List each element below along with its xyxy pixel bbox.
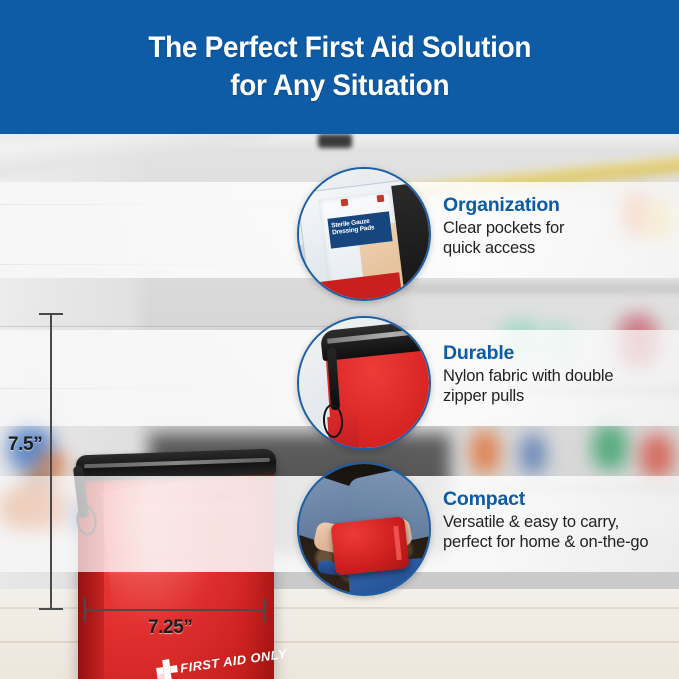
feature-title: Compact	[443, 488, 679, 511]
ceiling-mount-icon	[318, 134, 352, 148]
feature-image-durable	[297, 316, 431, 450]
feature-image-organization: Sterile Gauze Dressing Pads	[297, 167, 431, 301]
shelf-item	[592, 424, 628, 470]
feature-desc-line-2: perfect for home & on-the-go	[443, 533, 648, 551]
feature-text-compact: Compact Versatile & easy to carry, perfe…	[443, 488, 679, 552]
product-infographic: The Perfect First Aid Solution for Any S…	[0, 0, 679, 679]
feature-title: Organization	[443, 194, 679, 217]
feature-text-organization: Organization Clear pockets for quick acc…	[443, 194, 679, 258]
feature-desc-line-1: Clear pockets for	[443, 219, 564, 237]
feature-desc-line-2: zipper pulls	[443, 387, 524, 405]
feature-title: Durable	[443, 342, 679, 365]
shelf-item	[470, 430, 500, 474]
shelf-bar	[399, 284, 679, 293]
product-scene: FIRST AID ONLY Sterile Gauze Dressing Pa…	[0, 134, 679, 679]
shelf-item	[640, 434, 674, 478]
shelf-item	[520, 434, 546, 474]
feature-image-compact	[297, 462, 431, 596]
width-dimension-label: 7.25”	[148, 617, 192, 639]
feature-desc-line-2: quick access	[443, 239, 535, 257]
header-banner: The Perfect First Aid Solution for Any S…	[0, 0, 679, 134]
width-dimension-line	[84, 609, 266, 611]
headline-line-2: for Any Situation	[230, 67, 449, 105]
headline-line-1: The Perfect First Aid Solution	[148, 29, 531, 67]
height-dimension-label: 7.5”	[8, 434, 42, 456]
feature-text-durable: Durable Nylon fabric with double zipper …	[443, 342, 679, 406]
feature-desc-line-1: Nylon fabric with double	[443, 367, 613, 385]
feature-desc-line-1: Versatile & easy to carry,	[443, 513, 619, 531]
checkered-cross-icon	[155, 658, 179, 679]
height-dimension-line	[50, 313, 52, 610]
